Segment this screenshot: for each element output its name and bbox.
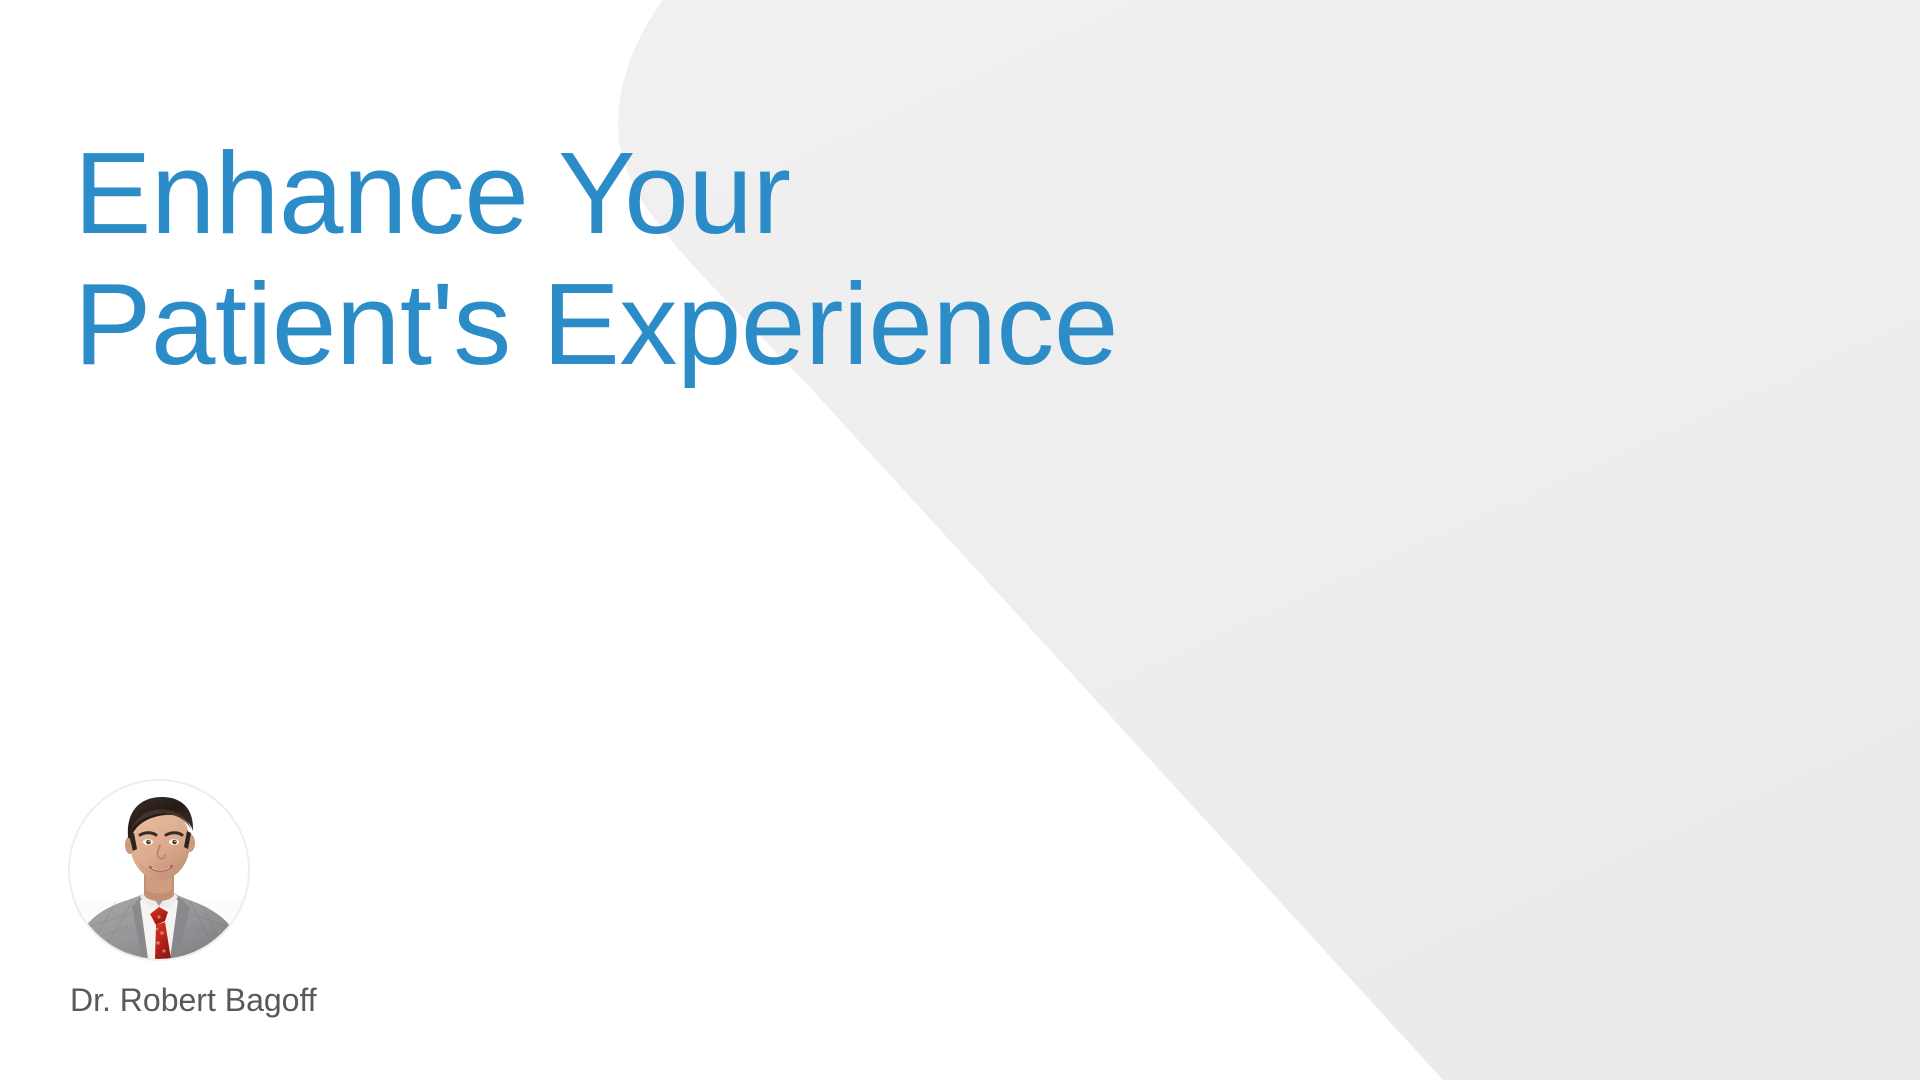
page-title: Enhance Your Patient's Experience bbox=[74, 128, 1274, 390]
avatar bbox=[70, 781, 248, 959]
title-line-1: Enhance Your bbox=[74, 128, 1274, 259]
speaker-name: Dr. Robert Bagoff bbox=[70, 983, 490, 1017]
speaker-headshot-photo-icon bbox=[70, 781, 248, 959]
title-line-2: Patient's Experience bbox=[74, 259, 1274, 390]
slide-canvas: Enhance Your Patient's Experience bbox=[0, 0, 1920, 1080]
speaker-block: Dr. Robert Bagoff bbox=[70, 781, 490, 1017]
